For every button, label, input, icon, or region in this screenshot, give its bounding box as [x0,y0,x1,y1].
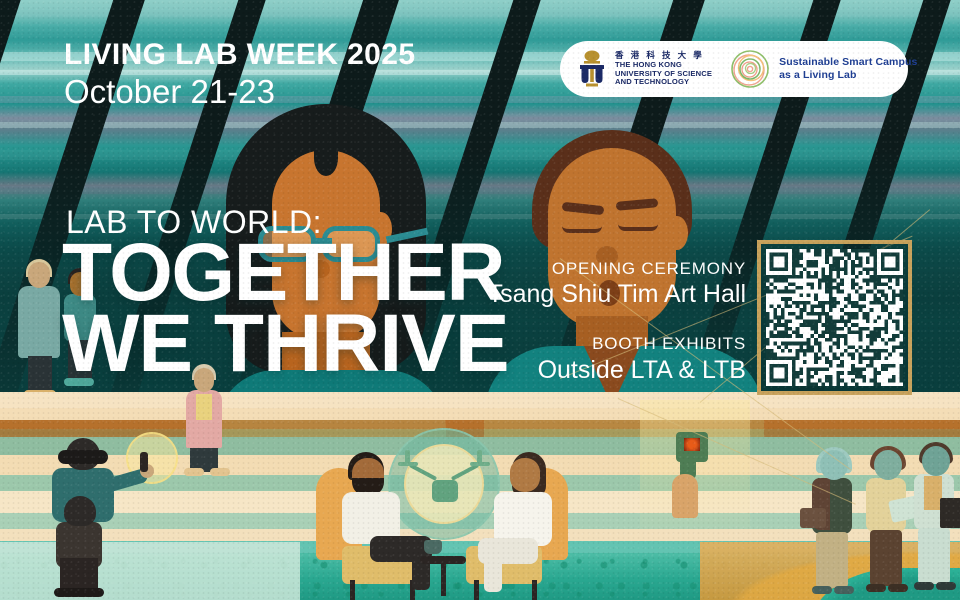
booth-exhibits-venue: Outside LTA & LTB [488,355,746,385]
sustainable-smart-campus-logo: Sustainable Smart Campus as a Living Lab [730,49,917,89]
opening-ceremony-block: OPENING CEREMONY Tsang Shiu Tim Art Hall [488,258,746,309]
headline-line-2: WE THRIVE [62,309,509,380]
event-dates: October 21-23 [64,74,415,110]
seated-man-illustration [336,452,432,592]
event-title: LIVING LAB WEEK 2025 [64,40,415,70]
concentric-circles-icon [730,49,770,89]
side-table-illustration [420,556,466,600]
opening-ceremony-label: OPENING CEREMONY [488,258,746,279]
hkust-name-line-3: AND TECHNOLOGY [615,78,712,87]
logo-bar: 香 港 科 技 大 學 THE HONG KONG UNIVERSITY OF … [560,41,908,97]
opening-ceremony-venue: Tsang Shiu Tim Art Hall [488,279,746,309]
ssc-line-1: Sustainable Smart Campus [779,56,917,69]
hkust-logo-text: 香 港 科 技 大 學 THE HONG KONG UNIVERSITY OF … [615,51,712,86]
coffee-cup-illustration [424,540,442,554]
qr-code[interactable] [757,240,912,395]
event-header: LIVING LAB WEEK 2025 October 21-23 [64,40,415,110]
hkust-shield-icon [576,50,608,88]
seated-woman-illustration [478,452,578,594]
event-details: OPENING CEREMONY Tsang Shiu Tim Art Hall… [488,258,746,385]
ssc-line-2: as a Living Lab [779,69,917,82]
hkust-logo: 香 港 科 技 大 學 THE HONG KONG UNIVERSITY OF … [576,50,712,88]
thermal-camera-hand-illustration [640,400,770,540]
booth-exhibits-label: BOOTH EXHIBITS [488,333,746,354]
booth-exhibits-block: BOOTH EXHIBITS Outside LTA & LTB [488,333,746,384]
main-headline: LAB TO WORLD: TOGETHER WE THRIVE [62,206,509,379]
poster-canvas: LIVING LAB WEEK 2025 October 21-23 LAB T… [0,0,960,600]
ssc-logo-text: Sustainable Smart Campus as a Living Lab [779,56,917,81]
vr-headset-demo-illustration [44,438,154,598]
walking-students-illustration [806,446,956,600]
